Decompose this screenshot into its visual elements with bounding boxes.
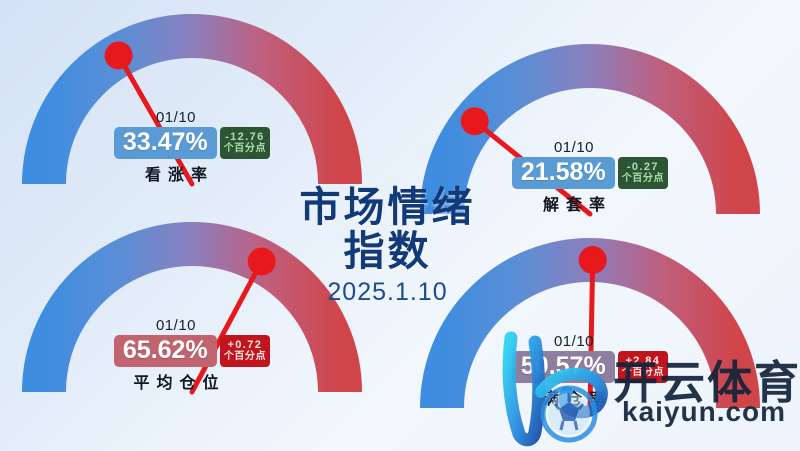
gauge-delta-number: +0.72 [227, 340, 262, 352]
gauge-value-row: 50.57% +2.84 个百分点 [512, 351, 668, 383]
poster-canvas: 01/10 33.47% -12.76 个百分点 看涨率 [0, 0, 800, 451]
gauge-value-row: 33.47% -12.76 个百分点 [114, 127, 270, 159]
gauge-delta-badge: +0.72 个百分点 [220, 335, 270, 367]
gauge-readout: 01/10 21.58% -0.27 个百分点 解套率 [420, 140, 760, 215]
gauge-delta-unit: 个百分点 [622, 174, 664, 185]
gauge-day-tag: 01/10 [554, 334, 594, 349]
gauge-bullish-rate: 01/10 33.47% -12.76 个百分点 看涨率 [22, 14, 362, 204]
gauge-readout: 01/10 65.62% +0.72 个百分点 平均仓位 [22, 318, 362, 393]
gauge-value-row: 65.62% +0.72 个百分点 [114, 335, 270, 367]
gauge-caption: 解套率 [536, 191, 612, 215]
gauge-delta-badge: -0.27 个百分点 [618, 157, 668, 189]
gauge-caption: 平均仓位 [126, 369, 225, 393]
gauge-readout: 01/10 50.57% +2.84 个百分点 满仓率 [420, 334, 760, 409]
gauge-delta-number: -0.27 [627, 162, 659, 174]
gauge-value-badge: 50.57% [512, 351, 615, 383]
gauge-delta-number: -12.76 [225, 132, 265, 144]
gauge-value-row: 21.58% -0.27 个百分点 [512, 157, 668, 189]
gauge-value-badge: 65.62% [114, 335, 217, 367]
gauge-delta-unit: 个百分点 [224, 144, 266, 155]
gauge-delta-unit: 个百分点 [622, 368, 664, 379]
gauge-readout: 01/10 33.47% -12.76 个百分点 看涨率 [22, 110, 362, 185]
gauge-unwind-rate: 01/10 21.58% -0.27 个百分点 解套率 [420, 44, 760, 234]
gauge-delta-badge: +2.84 个百分点 [618, 351, 668, 383]
gauge-average-position: 01/10 65.62% +0.72 个百分点 平均仓位 [22, 222, 362, 412]
gauge-day-tag: 01/10 [156, 110, 196, 125]
gauge-value-badge: 33.47% [114, 127, 217, 159]
gauge-day-tag: 01/10 [554, 140, 594, 155]
gauge-full-position-rate: 01/10 50.57% +2.84 个百分点 满仓率 [420, 238, 760, 428]
gauge-day-tag: 01/10 [156, 318, 196, 333]
gauge-caption: 看涨率 [138, 161, 214, 185]
gauge-delta-number: +2.84 [625, 356, 660, 368]
gauge-value-badge: 21.58% [512, 157, 615, 189]
gauge-caption: 满仓率 [536, 385, 612, 409]
gauge-delta-badge: -12.76 个百分点 [220, 127, 270, 159]
gauge-delta-unit: 个百分点 [224, 352, 266, 363]
